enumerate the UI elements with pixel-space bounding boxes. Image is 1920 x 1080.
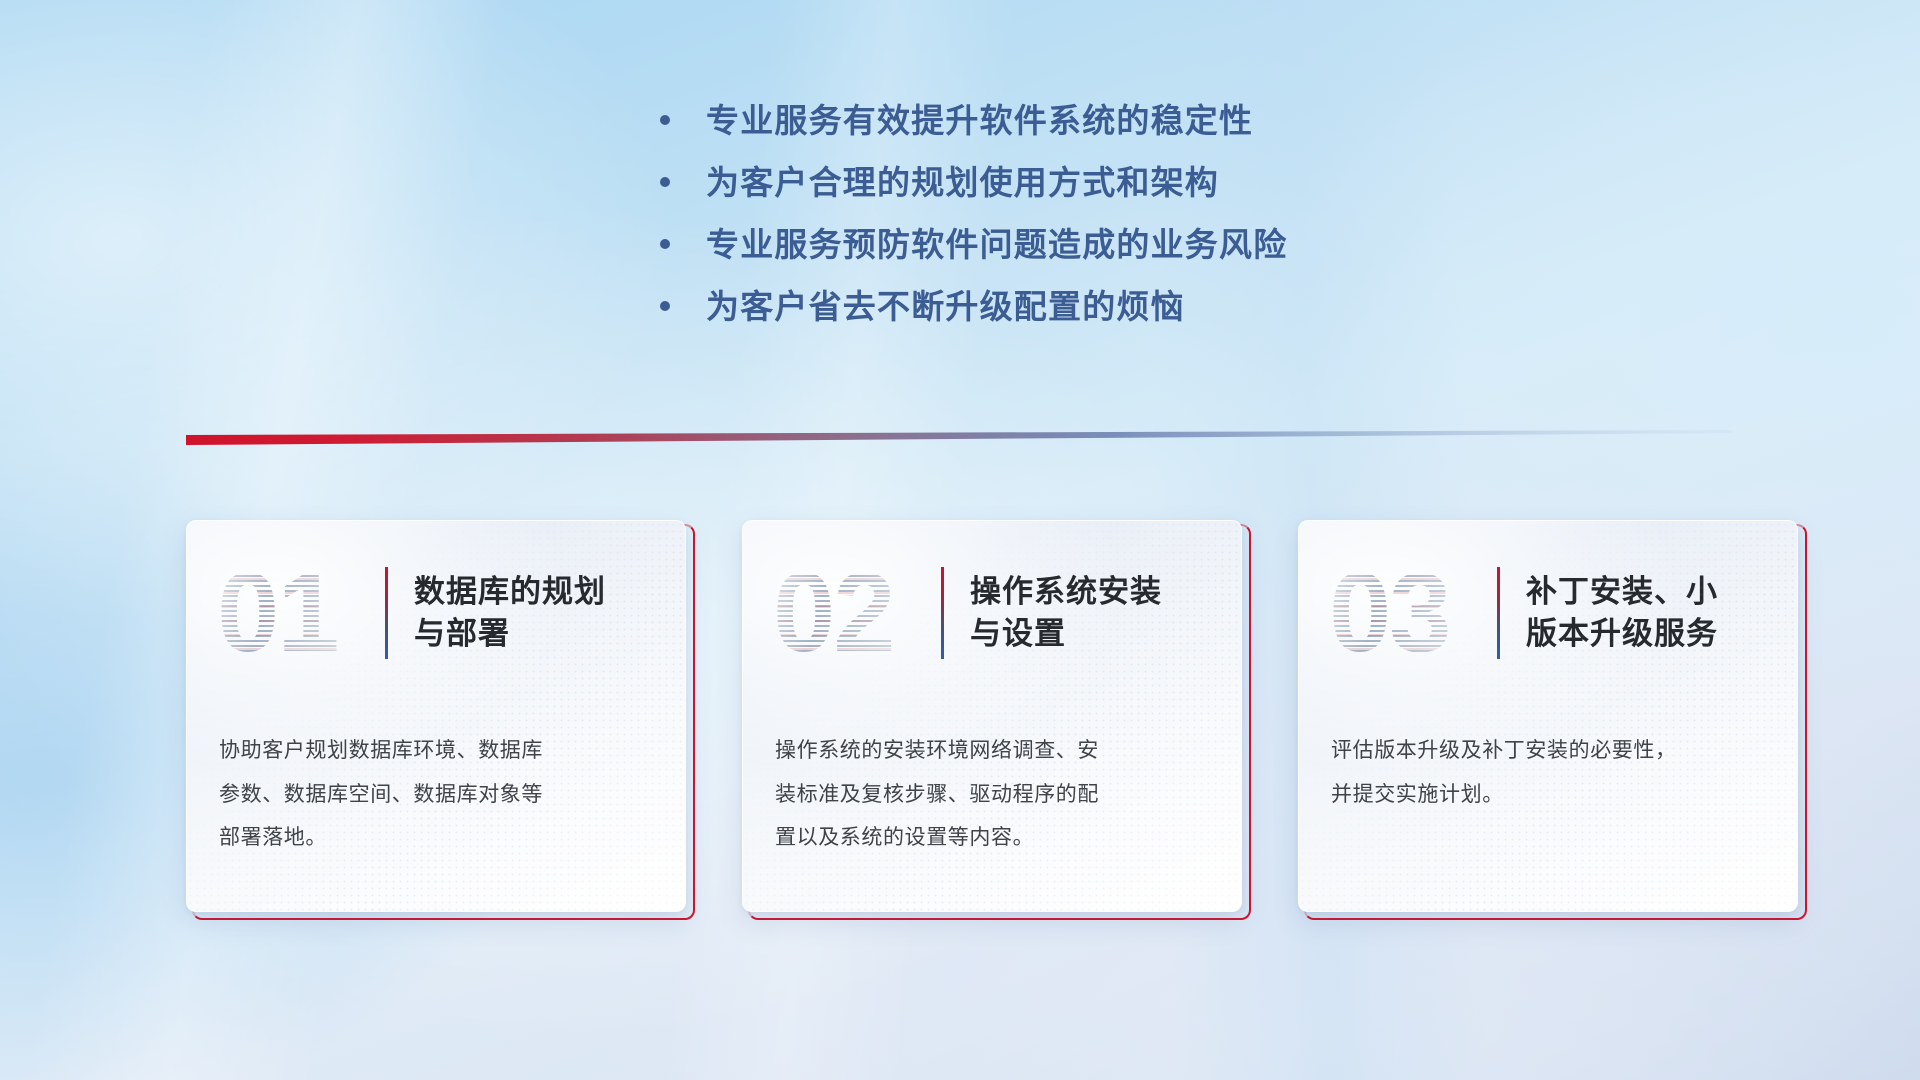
bullet-text: 为客户省去不断升级配置的烦恼 (706, 290, 1185, 323)
service-card[interactable]: 02 02 操作系统安装 与设置 操作系统的安装环境网络调查、安 装标准及复核步… (742, 520, 1245, 916)
card-title: 补丁安装、小 版本升级服务 (1526, 571, 1718, 655)
card-number-graphic: 03 03 (1329, 550, 1479, 676)
card-divider-bar (941, 567, 944, 659)
card-header: 03 03 补丁安装、小 版本升级服务 (1329, 539, 1775, 687)
card-surface: 03 03 补丁安装、小 版本升级服务 评估版本升级及补丁安装的必要性， 并提交… (1298, 520, 1798, 912)
card-number-text-tint: 01 (217, 550, 367, 676)
list-item: 为客户省去不断升级配置的烦恼 (660, 290, 1287, 323)
list-item: 专业服务有效提升软件系统的稳定性 (660, 104, 1287, 137)
card-description: 操作系统的安装环境网络调查、安 装标准及复核步骤、驱动程序的配 置以及系统的设置… (775, 729, 1213, 860)
card-number-text-tint: 02 (773, 550, 923, 676)
service-card[interactable]: 03 03 补丁安装、小 版本升级服务 评估版本升级及补丁安装的必要性， 并提交… (1298, 520, 1801, 916)
service-card[interactable]: 01 01 数据库的规划 与部署 协助客户规划数据库环境、数据库 参数、数据库空… (186, 520, 689, 916)
list-item: 专业服务预防软件问题造成的业务风险 (660, 228, 1287, 261)
card-header: 02 02 操作系统安装 与设置 (773, 539, 1219, 687)
card-number-graphic: 01 01 (217, 550, 367, 676)
bullet-list: 专业服务有效提升软件系统的稳定性 为客户合理的规划使用方式和架构 专业服务预防软… (660, 104, 1287, 323)
bullet-dot-icon (660, 177, 670, 187)
card-description: 协助客户规划数据库环境、数据库 参数、数据库空间、数据库对象等 部署落地。 (219, 729, 657, 860)
card-title: 数据库的规划 与部署 (414, 571, 606, 655)
card-divider-bar (1497, 567, 1500, 659)
card-surface: 02 02 操作系统安装 与设置 操作系统的安装环境网络调查、安 装标准及复核步… (742, 520, 1242, 912)
card-divider-bar (385, 567, 388, 659)
card-header: 01 01 数据库的规划 与部署 (217, 539, 663, 687)
card-surface: 01 01 数据库的规划 与部署 协助客户规划数据库环境、数据库 参数、数据库空… (186, 520, 686, 912)
card-description: 评估版本升级及补丁安装的必要性， 并提交实施计划。 (1331, 729, 1769, 816)
bullet-dot-icon (660, 301, 670, 311)
wedge-divider (186, 428, 1732, 450)
bullet-text: 为客户合理的规划使用方式和架构 (706, 166, 1219, 199)
card-number-text-tint: 03 (1329, 550, 1479, 676)
bullet-text: 专业服务有效提升软件系统的稳定性 (706, 104, 1253, 137)
slide-canvas: 专业服务有效提升软件系统的稳定性 为客户合理的规划使用方式和架构 专业服务预防软… (0, 0, 1920, 1080)
bullet-dot-icon (660, 115, 670, 125)
card-row: 01 01 数据库的规划 与部署 协助客户规划数据库环境、数据库 参数、数据库空… (186, 520, 1802, 916)
bullet-text: 专业服务预防软件问题造成的业务风险 (706, 228, 1287, 261)
list-item: 为客户合理的规划使用方式和架构 (660, 166, 1287, 199)
card-number-graphic: 02 02 (773, 550, 923, 676)
card-title: 操作系统安装 与设置 (970, 571, 1162, 655)
bullet-dot-icon (660, 239, 670, 249)
